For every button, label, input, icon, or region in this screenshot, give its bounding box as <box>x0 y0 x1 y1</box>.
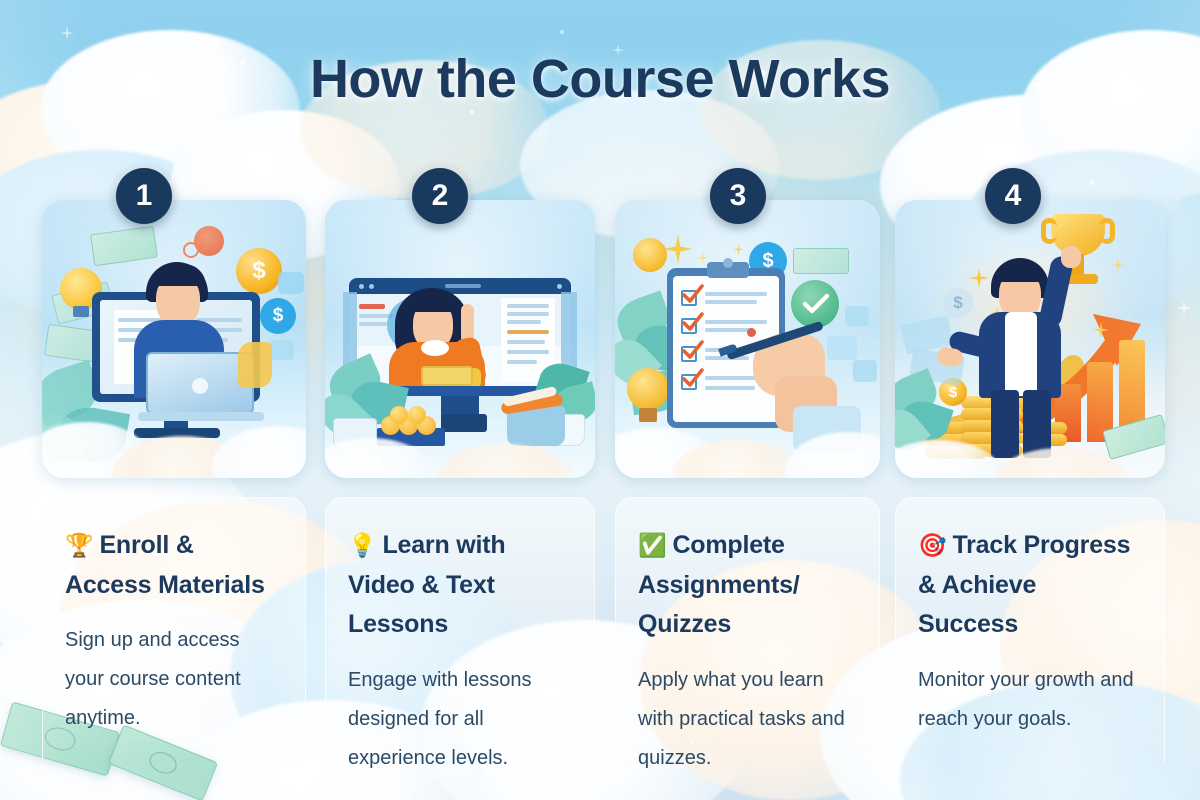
illustration-panel-3: $ <box>615 200 880 478</box>
step-number-4: 4 <box>1005 179 1022 213</box>
step-heading-text-1: Enroll & Access Materials <box>65 531 265 599</box>
step-card-2: 💡Learn with Video & Text Lessons Engage … <box>325 497 595 765</box>
check-badge-icon: ✅ <box>638 532 666 558</box>
step-card-3: ✅Complete Assignments/ Quizzes Apply wha… <box>615 497 880 765</box>
step-badge-1: 1 <box>116 168 172 224</box>
step-body-3: Apply what you learn with practical task… <box>638 661 853 778</box>
step-heading-2: 💡Learn with Video & Text Lessons <box>348 526 568 645</box>
illustration-panel-2 <box>325 200 595 478</box>
step-card-4: 🎯Track Progress & Achieve Success Monito… <box>895 497 1165 765</box>
page-title: How the Course Works <box>0 48 1200 110</box>
target-dart-icon: 🎯 <box>918 532 946 558</box>
step-badge-2: 2 <box>412 168 468 224</box>
green-check-icon <box>803 293 829 315</box>
step-badge-3: 3 <box>710 168 766 224</box>
trophy-icon: 🏆 <box>65 532 93 558</box>
illustration-panel-1: $ $ <box>42 200 306 478</box>
lightbulb-icon: 💡 <box>348 532 376 558</box>
infographic-canvas: How the Course Works $ $ <box>0 0 1200 800</box>
step-heading-1: 🏆Enroll & Access Materials <box>65 526 279 605</box>
step-heading-4: 🎯Track Progress & Achieve Success <box>918 526 1138 645</box>
step-badge-4: 4 <box>985 168 1041 224</box>
step-number-2: 2 <box>432 179 449 213</box>
step-card-1: 🏆Enroll & Access Materials Sign up and a… <box>42 497 306 765</box>
step-number-3: 3 <box>730 179 747 213</box>
step-body-2: Engage with lessons designed for all exp… <box>348 661 568 778</box>
step-body-1: Sign up and access your course content a… <box>65 621 279 738</box>
step-number-1: 1 <box>136 179 153 213</box>
step-heading-text-4: Track Progress & Achieve Success <box>918 531 1130 638</box>
step-body-4: Monitor your growth and reach your goals… <box>918 661 1138 739</box>
illustration-panel-4: $ $ <box>895 200 1165 478</box>
step-heading-3: ✅Complete Assignments/ Quizzes <box>638 526 853 645</box>
